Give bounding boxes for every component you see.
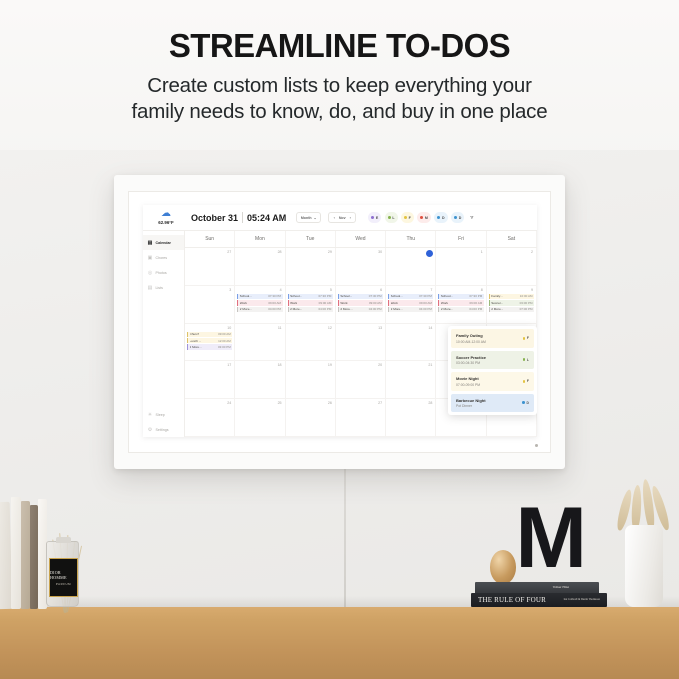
day-number: 17	[187, 363, 232, 369]
event-time: 09:00 AM	[319, 301, 332, 305]
member-pill-l-1[interactable]: L	[385, 212, 398, 223]
member-initial: F	[409, 216, 411, 220]
day-number: 20	[338, 363, 383, 369]
day-number: 14	[388, 326, 433, 332]
calendar-icon: ▤	[147, 240, 153, 246]
event-time: 09:00 AM	[268, 301, 281, 305]
event-card-assignee: D	[522, 401, 529, 405]
book-spine	[21, 501, 30, 609]
event-time: 09:00 AM	[218, 332, 231, 336]
event-title: Lunch ...	[190, 339, 202, 343]
calendar-day-cell[interactable]: 11	[235, 324, 285, 361]
calendar-event[interactable]: 2 More...04:00 PM	[438, 307, 483, 312]
event-card-assignee: F	[523, 379, 529, 383]
event-time: 07:30 PM	[369, 294, 382, 298]
calendar-day-cell[interactable]: 27	[336, 399, 386, 436]
assignee-initial: L	[527, 358, 529, 362]
day-number: 18	[237, 363, 282, 369]
day-number: 11	[237, 326, 282, 332]
event-card-assignee: L	[523, 358, 529, 362]
member-pill-e-0[interactable]: E	[368, 212, 381, 223]
calendar-event[interactable]: 2 More...04:00 PM	[237, 307, 282, 312]
member-initial: D	[459, 216, 462, 220]
sidebar-item-label: Settings	[156, 428, 169, 432]
event-title: School...	[290, 294, 302, 298]
event-time: 04:00 PM	[268, 307, 281, 311]
event-card-title: Barbecue Night	[456, 398, 486, 403]
day-number: 27	[187, 250, 232, 256]
event-time: 03:00 PM	[218, 345, 231, 349]
event-card-time: 10:00 AM-12:00 AM	[456, 340, 486, 344]
chevron-down-icon: ⌄	[314, 216, 317, 220]
member-filter-list: ELFMDD	[368, 212, 464, 223]
event-title: Work	[441, 301, 448, 305]
event-card-text: Barbecue NightPot Dinner	[456, 398, 486, 409]
member-color-dot	[388, 216, 391, 219]
day-number: 13	[338, 326, 383, 332]
event-time: 03:00 PM	[520, 301, 533, 305]
calendar-day-cell[interactable]: 14	[386, 324, 436, 361]
sun-icon: ✳	[147, 412, 153, 418]
day-header-sun: Sun	[185, 231, 235, 247]
calendar-app-screen: ☁ 62.96°F October 31 05:24 AM Month ⌄ ‹	[143, 205, 537, 437]
event-time: 04:00 PM	[319, 307, 332, 311]
book-spine	[30, 505, 38, 609]
event-title: 2 More...	[190, 345, 202, 349]
sidebar-spacer	[143, 295, 184, 407]
room-scene: ☁ 62.96°F October 31 05:24 AM Month ⌄ ‹	[0, 150, 679, 679]
calendar-day-cell[interactable]: 26	[286, 399, 336, 436]
calendar-day-cell[interactable]: 17	[185, 361, 235, 398]
calendar-day-cell[interactable]: 8School...07:30 PMWork09:00 AM2 More...0…	[436, 286, 486, 323]
event-title: Family...	[491, 294, 502, 298]
event-title: Church	[190, 332, 200, 336]
event-title: School...	[240, 294, 252, 298]
calendar-day-cell[interactable]: 6School...07:30 PMWork09:00 AM2 More...0…	[336, 286, 386, 323]
member-initial: M	[425, 216, 428, 220]
wooden-desk	[0, 607, 679, 679]
sidebar-item-label: Lists	[156, 286, 163, 290]
day-number: 28	[388, 401, 433, 407]
book-top-title: Volker Hinz	[553, 585, 569, 589]
calendar-event[interactable]: Work09:00 AM	[338, 300, 383, 305]
day-number-today	[426, 250, 433, 257]
calendar-day-cell[interactable]: 28	[386, 399, 436, 436]
calendar-event[interactable]: Family...10:00 AM	[489, 294, 534, 299]
event-time: 04:00 PM	[419, 307, 432, 311]
day-header-mon: Mon	[235, 231, 285, 247]
month-navigation[interactable]: ‹ Nov ›	[328, 212, 356, 223]
calendar-event[interactable]: 2 More...07:00 PM	[489, 307, 534, 312]
day-number: 25	[237, 401, 282, 407]
power-indicator-dot	[535, 444, 538, 447]
day-header-tue: Tue	[286, 231, 336, 247]
assignee-initial: F	[527, 336, 529, 340]
calendar-event[interactable]: 2 More...03:00 PM	[187, 344, 232, 349]
calendar-event[interactable]: Church09:00 AM	[187, 332, 232, 337]
calendar-day-cell[interactable]	[386, 248, 436, 285]
event-card[interactable]: Barbecue NightPot DinnerD	[451, 394, 534, 413]
member-initial: D	[442, 216, 445, 220]
day-number: 26	[288, 401, 333, 407]
event-card-time: 07:00-09:00 PM	[456, 383, 480, 387]
promo-subtitle-line-1: Create custom lists to keep everything y…	[0, 73, 679, 99]
day-header-thu: Thu	[386, 231, 436, 247]
event-title: 2 More...	[340, 307, 352, 311]
event-title: Soccer...	[491, 301, 503, 305]
event-card-text: Family Outing10:00 AM-12:00 AM	[456, 333, 486, 344]
calendar-day-cell[interactable]: 1	[436, 248, 486, 285]
day-number: 3	[187, 288, 232, 294]
event-detail-panel: Family Outing10:00 AM-12:00 AMFSoccer Pr…	[448, 326, 537, 415]
view-selector-label: Month	[301, 216, 312, 220]
event-time: 12:00 AM	[218, 339, 231, 343]
day-number: 2	[489, 250, 534, 256]
assignee-color-dot	[523, 358, 526, 361]
event-title: 2 More...	[441, 307, 453, 311]
event-time: 09:00 AM	[419, 301, 432, 305]
event-time: 07:30 PM	[268, 294, 281, 298]
event-time: 07:00 PM	[520, 307, 533, 311]
sidebar-item-lists[interactable]: ▤Lists	[143, 280, 184, 295]
day-number: 30	[338, 250, 383, 256]
sidebar-item-chores[interactable]: ▣Chores	[143, 250, 184, 265]
event-card-text: Movie Night07:00-09:00 PM	[456, 376, 480, 387]
gear-icon: ⚙	[147, 427, 153, 433]
event-title: 2 More...	[391, 307, 403, 311]
photo-icon: ◎	[147, 270, 153, 276]
event-title: 2 More...	[240, 307, 252, 311]
calendar-event[interactable]: School...07:30 PM	[388, 294, 433, 299]
calendar-day-cell[interactable]: 4School...07:30 PMWork09:00 AM2 More...0…	[235, 286, 285, 323]
calendar-day-cell[interactable]: 9Family...10:00 AMSoccer...03:00 PM2 Mor…	[487, 286, 537, 323]
calendar-day-cell[interactable]: 19	[286, 361, 336, 398]
calendar-day-cell[interactable]: 13	[336, 324, 386, 361]
day-header-wed: Wed	[336, 231, 386, 247]
calendar-event[interactable]: 2 More...04:00 PM	[288, 307, 333, 312]
calendar-day-cell[interactable]: 7School...07:30 PMWork09:00 AM2 More...0…	[386, 286, 436, 323]
event-time: 09:00 AM	[369, 301, 382, 305]
reed-diffuser-bottle: DIOR HOMME PARFUM	[46, 541, 79, 607]
chevron-left-icon[interactable]: ‹	[334, 216, 335, 220]
current-date: October 31	[191, 213, 238, 223]
calendar-day-cell[interactable]: 5School...07:30 PMWork09:00 AM2 More...0…	[286, 286, 336, 323]
member-color-dot	[404, 216, 407, 219]
nav-month-label: Nov	[339, 216, 346, 220]
sidebar-item-label: Chores	[156, 256, 168, 260]
view-selector-dropdown[interactable]: Month ⌄	[296, 212, 321, 223]
date-time-display: October 31 05:24 AM	[191, 212, 286, 223]
event-title: School...	[340, 294, 352, 298]
event-title: 2 More...	[290, 307, 302, 311]
calendar-event[interactable]: School...07:30 PM	[288, 294, 333, 299]
day-number: 1	[438, 250, 483, 256]
assignee-color-dot	[522, 401, 525, 404]
list-icon: ▤	[147, 285, 153, 291]
event-title: Work	[391, 301, 398, 305]
member-color-dot	[420, 216, 423, 219]
diffuser-brand: DIOR HOMME	[50, 570, 77, 580]
day-of-week-header: SunMonTueWedThuFriSat	[185, 231, 537, 248]
day-number: 24	[187, 401, 232, 407]
calendar-event[interactable]: School...07:30 PM	[338, 294, 383, 299]
member-pill-f-2[interactable]: F	[401, 212, 414, 223]
event-title: School...	[441, 294, 453, 298]
event-time: 07:30 PM	[419, 294, 432, 298]
sidebar-item-label: Sleep	[156, 413, 165, 417]
bottle-cap	[56, 537, 71, 543]
event-time: 07:30 PM	[319, 294, 332, 298]
current-time: 05:24 AM	[247, 213, 286, 223]
assignee-color-dot	[523, 380, 526, 383]
event-time: 07:30 PM	[469, 294, 482, 298]
calendar-day-cell[interactable]: 29	[286, 248, 336, 285]
event-card-title: Movie Night	[456, 376, 480, 381]
calendar-day-cell[interactable]: 28	[235, 248, 285, 285]
app-topbar: ☁ 62.96°F October 31 05:24 AM Month ⌄ ‹	[143, 205, 537, 231]
chevron-right-icon[interactable]: ›	[350, 216, 351, 220]
event-title: School...	[391, 294, 403, 298]
member-initial: L	[392, 216, 394, 220]
calendar-week-row: 2728293012	[185, 248, 537, 286]
promo-title: STREAMLINE TO-DOS	[0, 28, 679, 64]
event-time: 09:00 AM	[470, 301, 483, 305]
promo-subtitle-line-2: family needs to know, do, and buy in one…	[0, 99, 679, 125]
day-number: 12	[288, 326, 333, 332]
event-card-text: Soccer Practice03:00-04:30 PM	[456, 355, 486, 366]
sidebar-item-settings[interactable]: ⚙Settings	[143, 422, 184, 437]
calendar-day-cell[interactable]: 27	[185, 248, 235, 285]
calendar-day-cell[interactable]: 30	[336, 248, 386, 285]
calendar-event[interactable]: Work09:00 AM	[388, 300, 433, 305]
sidebar-item-sleep[interactable]: ✳Sleep	[143, 407, 184, 422]
calendar-day-cell[interactable]: 10Church09:00 AMLunch ...12:00 AM2 More.…	[185, 324, 235, 361]
member-pill-d-5[interactable]: D	[451, 212, 464, 223]
sidebar-item-label: Calendar	[156, 241, 171, 245]
event-card[interactable]: Soccer Practice03:00-04:30 PML	[451, 351, 534, 370]
sidebar-item-photos[interactable]: ◎Photos	[143, 265, 184, 280]
weather-widget[interactable]: ☁ 62.96°F	[145, 205, 187, 231]
book-authors: Ian Caldwell & Dustin Thomason	[564, 598, 600, 601]
calendar-day-cell[interactable]: 18	[235, 361, 285, 398]
stacked-book-bottom: THE RULE OF FOUR Ian Caldwell & Dustin T…	[471, 593, 607, 607]
day-number: 19	[288, 363, 333, 369]
basket-icon: ▣	[147, 255, 153, 261]
calendar-event[interactable]: Work09:00 AM	[288, 300, 333, 305]
day-header-sat: Sat	[487, 231, 537, 247]
calendar-event[interactable]: School...07:30 PM	[237, 294, 282, 299]
event-title: Work	[290, 301, 297, 305]
assignee-initial: D	[527, 401, 529, 405]
member-pill-m-3[interactable]: M	[417, 212, 431, 223]
calendar-event[interactable]: 2 More...04:00 PM	[388, 307, 433, 312]
event-time: 04:00 PM	[469, 307, 482, 311]
event-time: 10:00 AM	[520, 294, 533, 298]
member-color-dot	[371, 216, 374, 219]
assignee-initial: F	[527, 379, 529, 383]
member-pill-d-4[interactable]: D	[434, 212, 447, 223]
day-number: 29	[288, 250, 333, 256]
smart-display-frame: ☁ 62.96°F October 31 05:24 AM Month ⌄ ‹	[114, 175, 565, 469]
day-number: 27	[338, 401, 383, 407]
member-color-dot	[454, 216, 457, 219]
decorative-letter: M	[515, 501, 587, 575]
display-bezel-inner: ☁ 62.96°F October 31 05:24 AM Month ⌄ ‹	[128, 191, 551, 453]
diffuser-subtitle: PARFUM	[56, 582, 71, 586]
app-body: ▤Calendar▣Chores◎Photos▤Lists✳Sleep⚙Sett…	[143, 231, 537, 437]
book-title: THE RULE OF FOUR	[478, 596, 546, 604]
member-initial: E	[376, 216, 378, 220]
calendar-day-cell[interactable]: 20	[336, 361, 386, 398]
day-number: 28	[237, 250, 282, 256]
day-number: 21	[388, 363, 433, 369]
cloud-icon: ☁	[161, 210, 171, 218]
book-spine	[11, 497, 21, 609]
calendar-event[interactable]: 2 More...04:00 PM	[338, 307, 383, 312]
calendar-day-cell[interactable]: 24	[185, 399, 235, 436]
event-card[interactable]: Family Outing10:00 AM-12:00 AMF	[451, 329, 534, 348]
calendar-event[interactable]: Lunch ...12:00 AM	[187, 338, 232, 343]
promo-subtitle: Create custom lists to keep everything y…	[0, 73, 679, 125]
app-sidebar: ▤Calendar▣Chores◎Photos▤Lists✳Sleep⚙Sett…	[143, 231, 185, 437]
event-card-title: Family Outing	[456, 333, 486, 338]
calendar-day-cell[interactable]: 25	[235, 399, 285, 436]
event-title: 2 More...	[491, 307, 503, 311]
calendar-day-cell[interactable]: 2	[487, 248, 537, 285]
event-time: 04:00 PM	[369, 307, 382, 311]
sidebar-item-label: Photos	[156, 271, 167, 275]
bottle-label: DIOR HOMME PARFUM	[49, 558, 78, 597]
event-title: Work	[240, 301, 247, 305]
calendar-event[interactable]: Work09:00 AM	[438, 300, 483, 305]
event-card-time: 03:00-04:30 PM	[456, 361, 486, 365]
day-header-fri: Fri	[436, 231, 486, 247]
sidebar-item-calendar[interactable]: ▤Calendar	[143, 235, 184, 250]
ceramic-vase	[625, 525, 663, 607]
calendar-day-cell[interactable]: 3	[185, 286, 235, 323]
date-time-divider	[242, 212, 243, 223]
event-card-assignee: F	[523, 336, 529, 340]
golden-egg-ornament	[490, 550, 516, 584]
calendar-week-row: 34School...07:30 PMWork09:00 AM2 More...…	[185, 286, 537, 324]
calendar-event[interactable]: Soccer...03:00 PM	[489, 300, 534, 305]
event-card[interactable]: Movie Night07:00-09:00 PMF	[451, 372, 534, 391]
calendar-event[interactable]: Work09:00 AM	[237, 300, 282, 305]
wifi-icon[interactable]: ▿	[470, 214, 473, 221]
calendar-day-cell[interactable]: 21	[386, 361, 436, 398]
calendar-day-cell[interactable]: 12	[286, 324, 336, 361]
event-title: Work	[340, 301, 347, 305]
event-card-title: Soccer Practice	[456, 355, 486, 360]
calendar-event[interactable]: School...07:30 PM	[438, 294, 483, 299]
temperature-label: 62.96°F	[158, 220, 173, 225]
member-color-dot	[437, 216, 440, 219]
promo-header: STREAMLINE TO-DOS Create custom lists to…	[0, 0, 679, 160]
calendar-area: SunMonTueWedThuFriSat 272829301234School…	[185, 231, 537, 437]
event-card-time: Pot Dinner	[456, 404, 486, 408]
assignee-color-dot	[523, 337, 526, 340]
